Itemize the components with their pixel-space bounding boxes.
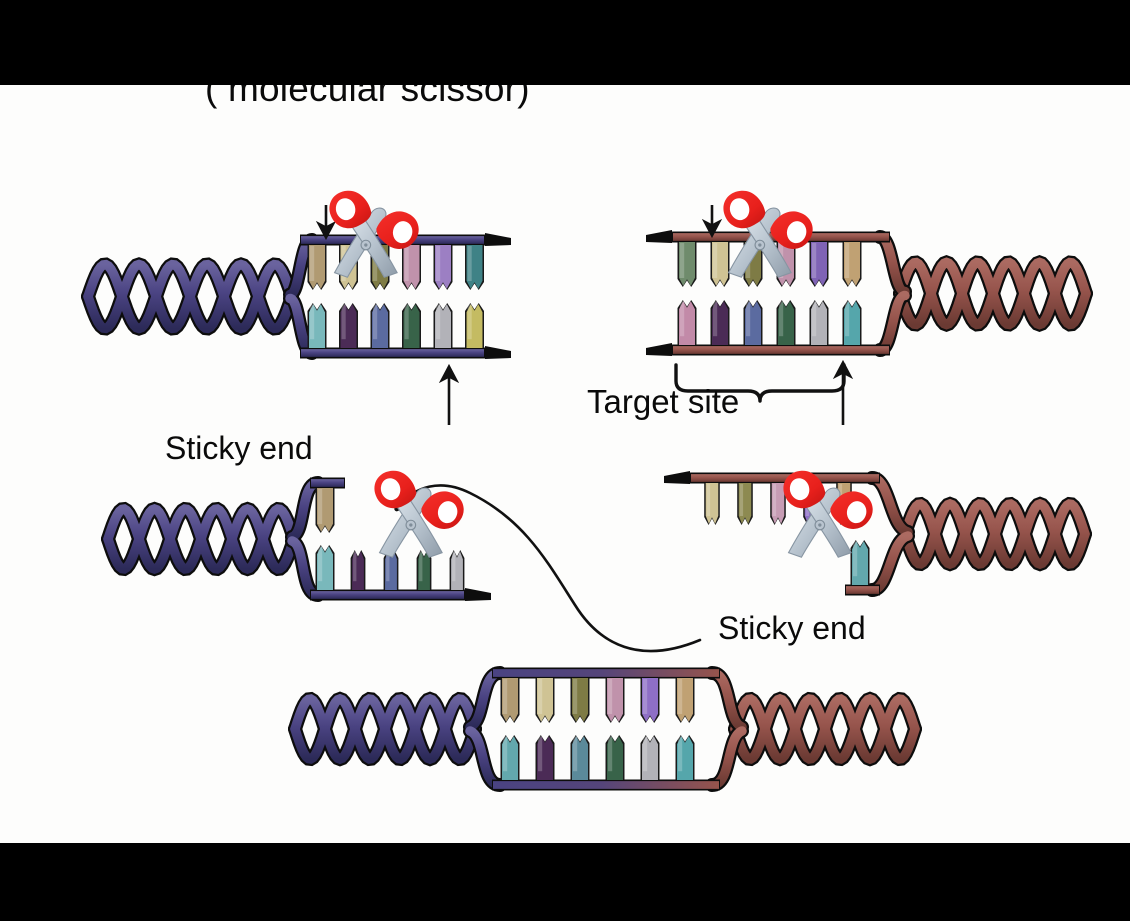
base-highlight: [678, 679, 682, 714]
base-bottom: [501, 735, 520, 780]
top-rail: [664, 471, 880, 484]
base-top: [308, 245, 327, 290]
scissor-pivot-dot: [409, 523, 412, 526]
base-highlight: [405, 246, 409, 281]
rail-flare: [465, 588, 491, 601]
rail-core: [673, 346, 889, 354]
base-highlight: [779, 301, 783, 336]
letterbox-top: [0, 0, 1130, 85]
base-highlight: [503, 679, 507, 714]
helix-right-dna: [900, 263, 1086, 325]
base-highlight: [538, 679, 542, 714]
base-highlight: [419, 551, 422, 581]
base-bottom-overhang: [851, 540, 870, 585]
base-top: [678, 242, 697, 287]
rail-flare: [485, 346, 511, 359]
base-bottom: [402, 303, 421, 348]
base-top: [501, 678, 520, 723]
base-bottom: [711, 300, 730, 345]
base-bottom: [465, 303, 484, 348]
base-bottom-exposed: [351, 550, 366, 590]
base-highlight: [608, 736, 612, 771]
helix-fragment-left: [108, 509, 294, 569]
base-highlight: [845, 243, 849, 278]
bottom-rail: [492, 780, 720, 791]
base-highlight: [853, 541, 857, 576]
cut-fragment-right: [664, 471, 1085, 596]
base-highlight: [405, 304, 409, 339]
base-highlight: [573, 736, 577, 771]
base-top: [810, 242, 829, 287]
letterbox-bottom: [0, 843, 1130, 921]
base-top: [571, 678, 590, 723]
top-rail: [492, 668, 720, 679]
base-highlight: [812, 243, 816, 278]
rail-core: [493, 781, 719, 789]
base-bottom: [777, 300, 796, 345]
base-highlight: [643, 679, 647, 714]
base-highlight: [707, 484, 710, 516]
base-top: [606, 678, 625, 723]
base-bottom: [676, 735, 695, 780]
scissor-pivot-dot: [818, 523, 821, 526]
diagram-stage: ( molecular scissor) Target site Sticky …: [0, 0, 1130, 921]
base-highlight: [373, 304, 377, 339]
base-highlight: [845, 301, 849, 336]
helix-recombinant-left: [295, 699, 475, 759]
rail-core: [691, 474, 879, 482]
base-highlight: [452, 551, 455, 581]
sticky-end-left-label: Sticky end: [165, 430, 313, 467]
base-bottom: [606, 735, 625, 780]
base-highlight: [468, 246, 472, 281]
target-site-label: Target site: [587, 383, 739, 421]
diagram-canvas: ( molecular scissor) Target site Sticky …: [0, 85, 1130, 843]
rail-core: [311, 479, 344, 487]
rail-flare: [646, 343, 672, 356]
base-highlight: [468, 304, 472, 339]
rail-core: [493, 669, 719, 677]
rail-flare: [664, 471, 690, 484]
base-highlight: [773, 484, 776, 516]
base-highlight: [713, 243, 717, 278]
base-bottom: [308, 303, 327, 348]
base-top-overhang: [316, 488, 335, 533]
base-bottom: [536, 735, 555, 780]
rail-flare: [485, 233, 511, 246]
base-highlight: [342, 304, 346, 339]
base-top-exposed: [737, 483, 753, 525]
base-bottom: [339, 303, 358, 348]
page-title: ( molecular scissor): [205, 85, 530, 110]
base-top: [641, 678, 660, 723]
base-bottom-exposed: [450, 550, 465, 590]
rail-core: [311, 591, 464, 599]
bottom-rail-short: [845, 585, 880, 596]
base-top: [676, 678, 695, 723]
scissor-pivot-dot: [364, 243, 367, 246]
base-top: [465, 245, 484, 290]
base-bottom: [810, 300, 829, 345]
base-highlight: [310, 246, 314, 281]
base-bottom: [434, 303, 453, 348]
top-rail-short: [310, 478, 345, 489]
base-top: [843, 242, 862, 287]
base-top: [536, 678, 555, 723]
base-top: [711, 242, 730, 287]
scissor-pivot-dot: [758, 243, 761, 246]
sticky-end-right-label: Sticky end: [718, 610, 866, 647]
uncut-dna-left: [88, 205, 511, 425]
base-highlight: [353, 551, 356, 581]
base-highlight: [643, 736, 647, 771]
base-highlight: [740, 484, 743, 516]
helix-left-dna: [88, 265, 292, 329]
base-highlight: [713, 301, 717, 336]
base-highlight: [318, 546, 322, 581]
base-highlight: [573, 679, 577, 714]
scissors-mid-left[interactable]: [374, 471, 467, 558]
base-bottom-overhang: [316, 545, 335, 590]
base-bottom: [571, 735, 590, 780]
base-highlight: [436, 304, 440, 339]
base-bottom: [641, 735, 660, 780]
helix-recombinant-right: [735, 699, 915, 759]
base-highlight: [678, 736, 682, 771]
base-top: [402, 245, 421, 290]
base-highlight: [680, 301, 684, 336]
base-bottom: [371, 303, 390, 348]
helix-fragment-right: [905, 504, 1085, 564]
base-highlight: [538, 736, 542, 771]
base-highlight: [746, 301, 750, 336]
recombinant-dna: [295, 668, 915, 791]
base-highlight: [310, 304, 314, 339]
base-highlight: [680, 243, 684, 278]
rail-flare: [646, 230, 672, 243]
base-bottom: [678, 300, 697, 345]
base-highlight: [608, 679, 612, 714]
rail-core: [846, 586, 879, 594]
base-highlight: [812, 301, 816, 336]
base-bottom: [843, 300, 862, 345]
base-highlight: [436, 246, 440, 281]
rail-core: [301, 349, 484, 357]
base-highlight: [318, 489, 322, 524]
base-top-exposed: [704, 483, 720, 525]
base-bottom: [744, 300, 763, 345]
base-highlight: [503, 736, 507, 771]
base-top: [434, 245, 453, 290]
